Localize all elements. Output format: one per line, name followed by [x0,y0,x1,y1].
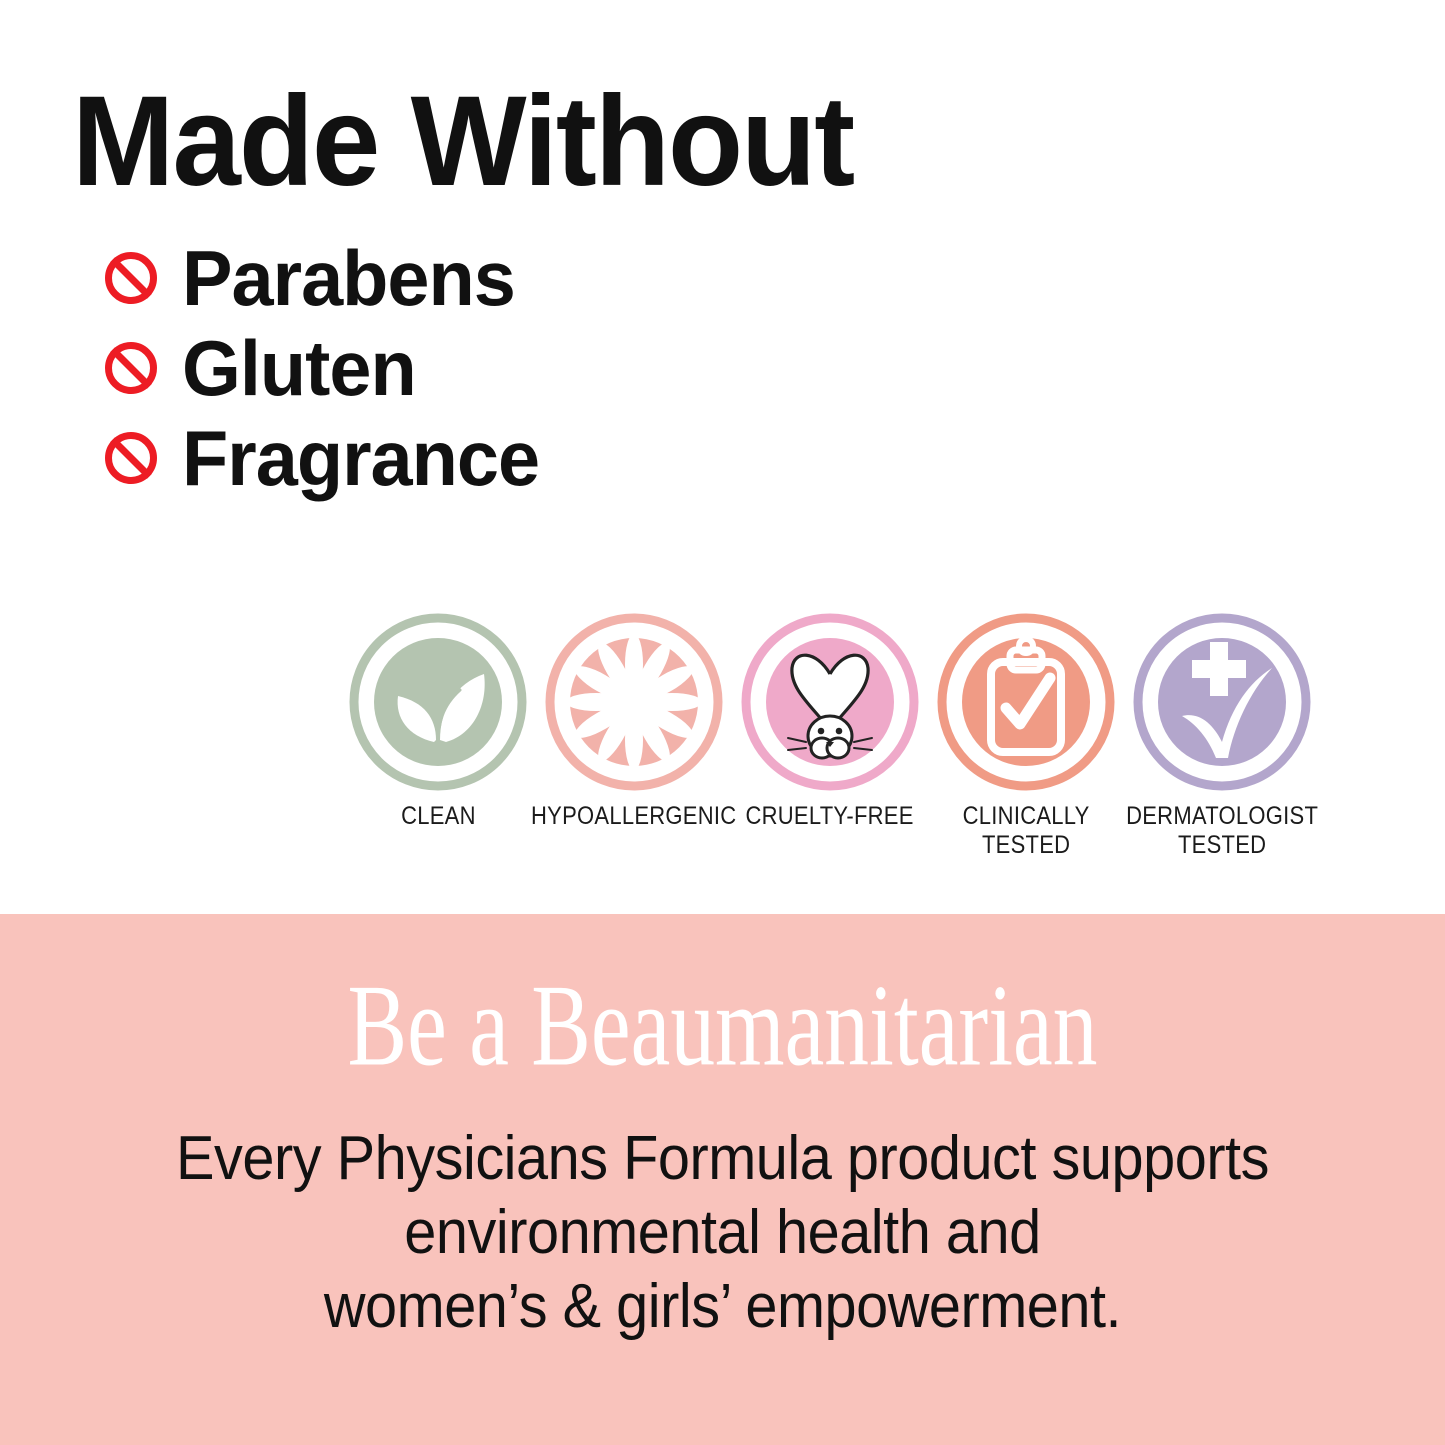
clipboard-check-icon [936,612,1116,792]
certification-badges: CLEAN [340,612,1320,860]
beaumanitarian-section: Be a Beaumanitarian Every Physicians For… [0,914,1445,1445]
badge-label: CLINICALLY TESTED [963,802,1090,860]
claim-label: Parabens [182,239,515,317]
paragraph-line: environmental health and [51,1196,1395,1270]
badge-label: DERMATOLOGIST TESTED [1126,802,1318,860]
section-paragraph: Every Physicians Formula product support… [51,1122,1395,1344]
cross-check-icon [1132,612,1312,792]
flower-icon [544,612,724,792]
list-item: Parabens [100,236,550,320]
list-item: Fragrance [100,416,550,500]
paragraph-line: women’s & girls’ empowerment. [51,1270,1395,1344]
free-from-claims-list: Parabens Gluten Fragrance [100,236,550,500]
badge-clean: CLEAN [340,612,536,831]
page-title: Made Without [72,78,853,206]
section-heading: Be a Beaumanitarian [101,968,1344,1084]
badge-cruelty-free: CRUELTY-FREE [732,612,928,831]
claim-label: Fragrance [182,419,539,497]
badge-label: CRUELTY-FREE [746,802,914,831]
leaves-icon [348,612,528,792]
badge-clinically-tested: CLINICALLY TESTED [928,612,1124,860]
claim-label: Gluten [182,329,416,407]
badge-dermatologist-tested: DERMATOLOGIST TESTED [1124,612,1320,860]
made-without-infographic: Made Without Parabens Gluten Fragrance [0,0,1445,1445]
paragraph-line: Every Physicians Formula product support… [51,1122,1395,1196]
badge-hypoallergenic: HYPOALLERGENIC [536,612,732,831]
made-without-section: Made Without Parabens Gluten Fragrance [0,0,1445,914]
prohibition-icon [100,247,162,309]
prohibition-icon [100,337,162,399]
badge-label: HYPOALLERGENIC [531,802,736,831]
badge-label: CLEAN [401,802,476,831]
prohibition-icon [100,427,162,489]
list-item: Gluten [100,326,550,410]
bunny-heart-icon [740,612,920,792]
